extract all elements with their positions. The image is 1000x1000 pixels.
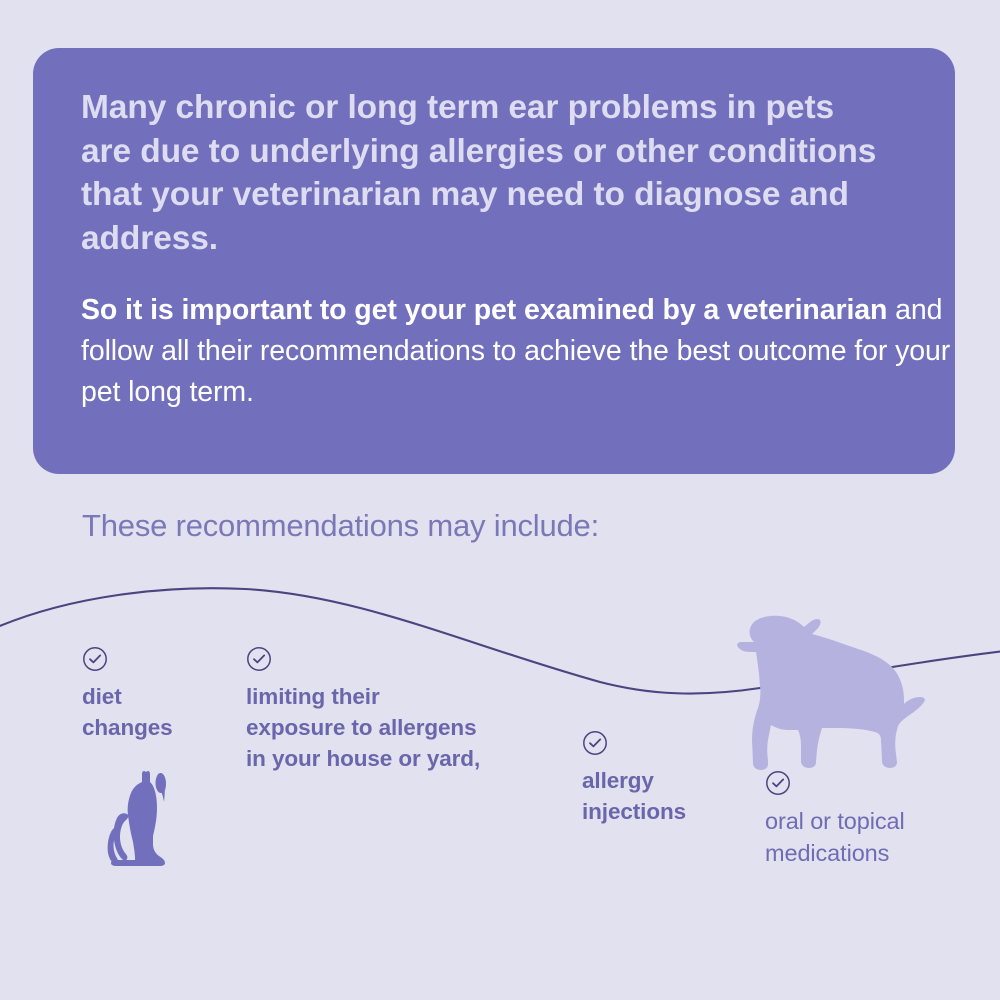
check-circle-icon [582, 730, 608, 756]
recommendation-label: allergy injections [582, 765, 782, 827]
callout-card: Many chronic or long term ear problems i… [33, 48, 955, 474]
recommendation-label: limiting their exposure to allergens in … [246, 681, 546, 774]
cat-silhouette [97, 770, 179, 868]
section-heading: These recommendations may include: [82, 508, 599, 544]
check-circle-icon [246, 646, 272, 672]
callout-body: So it is important to get your pet exami… [81, 260, 951, 413]
callout-heading: Many chronic or long term ear problems i… [81, 86, 891, 260]
recommendation-label: oral or topical medications [765, 805, 985, 869]
recommendation-item: diet changes [82, 646, 242, 743]
recommendation-item: oral or topical medications [765, 770, 985, 869]
recommendation-item: allergy injections [582, 730, 782, 827]
check-circle-icon [765, 770, 791, 796]
check-circle-icon [82, 646, 108, 672]
recommendation-item: limiting their exposure to allergens in … [246, 646, 546, 774]
callout-body-strong: So it is important to get your pet exami… [81, 294, 887, 326]
recommendation-label: diet changes [82, 681, 242, 743]
